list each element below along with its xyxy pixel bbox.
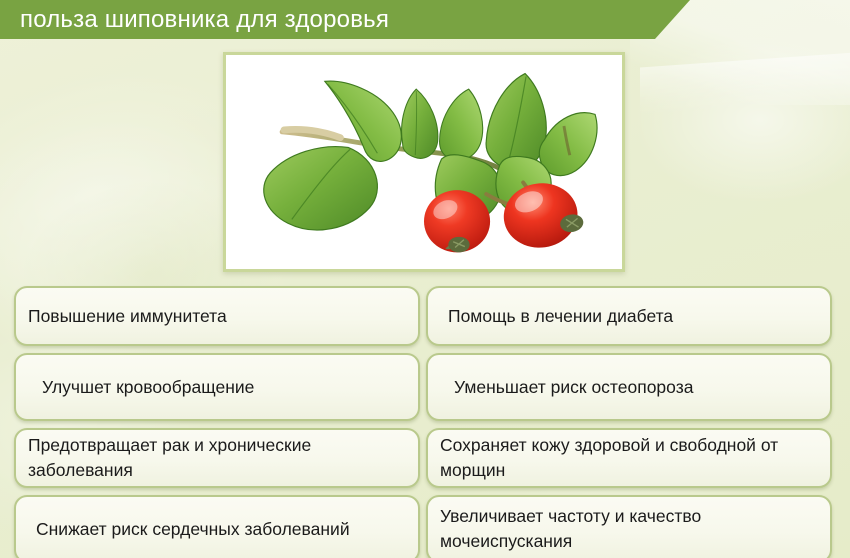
benefits-grid: Повышение иммунитета Помощь в лечении ди… bbox=[14, 286, 832, 558]
benefit-text-skin: Сохраняет кожу здоровой и свободной от м… bbox=[428, 433, 830, 483]
rosehip-photo bbox=[229, 58, 619, 266]
benefit-box-cancer[interactable]: Предотвращает рак и хронические заболева… bbox=[14, 428, 420, 488]
benefit-text-diabetes: Помощь в лечении диабета bbox=[428, 304, 830, 329]
benefit-box-circulation[interactable]: Улучшет кровообращение bbox=[14, 353, 420, 421]
benefit-text-cancer: Предотвращает рак и хронические заболева… bbox=[16, 433, 418, 483]
benefit-text-heart: Снижает риск сердечных заболеваний bbox=[16, 517, 418, 542]
benefit-box-diabetes[interactable]: Помощь в лечении диабета bbox=[426, 286, 832, 346]
benefit-box-urination[interactable]: Увеличивает частоту и качество мочеиспус… bbox=[426, 495, 832, 558]
page-title: польза шиповника для здоровья bbox=[20, 3, 389, 37]
infographic-poster: польза шиповника для здоровья bbox=[0, 0, 850, 558]
benefit-box-heart[interactable]: Снижает риск сердечных заболеваний bbox=[14, 495, 420, 558]
benefit-text-immunity: Повышение иммунитета bbox=[16, 304, 418, 329]
background-watermark-band bbox=[640, 52, 850, 115]
rosehip-branch-image bbox=[229, 58, 619, 266]
rosehip-photo-frame bbox=[223, 52, 625, 272]
benefit-text-urination: Увеличивает частоту и качество мочеиспус… bbox=[428, 504, 830, 554]
benefit-box-immunity[interactable]: Повышение иммунитета bbox=[14, 286, 420, 346]
benefit-text-circulation: Улучшет кровообращение bbox=[16, 375, 418, 400]
benefit-text-osteoporosis: Уменьшает риск остеопороза bbox=[428, 375, 830, 400]
benefit-box-osteoporosis[interactable]: Уменьшает риск остеопороза bbox=[426, 353, 832, 421]
benefit-box-skin[interactable]: Сохраняет кожу здоровой и свободной от м… bbox=[426, 428, 832, 488]
